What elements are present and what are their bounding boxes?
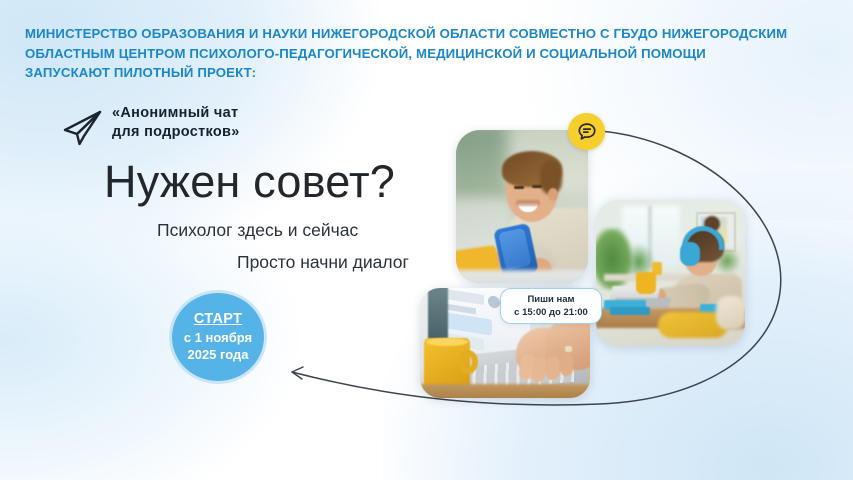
write-to-us-card: Пиши нам с 15:00 до 21:00 <box>500 288 602 324</box>
poster-canvas: МИНИСТЕРСТВО ОБРАЗОВАНИЯ И НАУКИ НИЖЕГОР… <box>0 0 853 480</box>
chat-bubble-icon[interactable] <box>568 113 605 150</box>
photo-girl-with-headphones <box>596 200 745 346</box>
chat-bubble-glyph-icon <box>576 121 598 143</box>
start-date-badge: СТАРТ с 1 ноября 2025 года <box>172 293 264 381</box>
brand-line-1: «Анонимный чат <box>112 104 240 123</box>
header-line-3: ЗАПУСКАЮТ ПИЛОТНЫЙ ПРОЕКТ: <box>25 63 825 83</box>
start-badge-title: СТАРТ <box>194 311 242 327</box>
header-text: МИНИСТЕРСТВО ОБРАЗОВАНИЯ И НАУКИ НИЖЕГОР… <box>25 24 825 83</box>
write-card-line-2: с 15:00 до 21:00 <box>514 306 588 319</box>
write-card-line-1: Пиши нам <box>527 293 574 306</box>
page-title: Нужен совет? <box>104 156 395 208</box>
start-badge-line-3: 2025 года <box>187 346 248 363</box>
subtitle-line-1: Психолог здесь и сейчас <box>157 220 358 241</box>
paper-plane-icon <box>60 108 104 148</box>
brand-text: «Анонимный чат для подростков» <box>112 104 240 142</box>
header-line-1: МИНИСТЕРСТВО ОБРАЗОВАНИЯ И НАУКИ НИЖЕГОР… <box>25 24 825 44</box>
brand-block: «Анонимный чат для подростков» <box>60 104 240 148</box>
header-line-2: ОБЛАСТНЫМ ЦЕНТРОМ ПСИХОЛОГО-ПЕДАГОГИЧЕСК… <box>25 44 825 64</box>
photo-teen-with-phone <box>456 130 588 283</box>
brand-line-2: для подростков» <box>112 123 240 142</box>
start-badge-line-2: с 1 ноября <box>184 329 252 346</box>
subtitle-line-2: Просто начни диалог <box>237 252 409 273</box>
arrow-head-left-icon <box>292 367 303 379</box>
